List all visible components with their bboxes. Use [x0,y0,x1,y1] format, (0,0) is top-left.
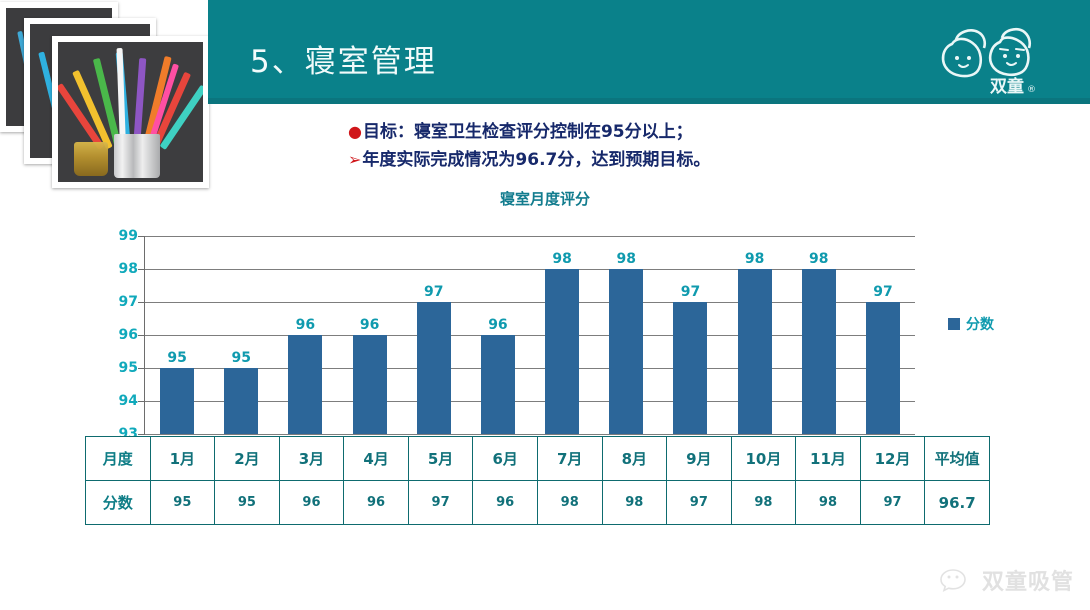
bar-value-label: 97 [873,284,892,300]
bar-value-label: 98 [617,251,636,267]
y-tick-mark [138,335,145,336]
header-underline [208,98,1090,104]
table-score-11月: 98 [796,481,861,525]
bar-value-label: 95 [167,350,186,366]
table-score-5月: 97 [408,481,473,525]
bar-value-label: 98 [809,251,828,267]
bar-cell[interactable]: 96 [273,236,337,434]
bar-cell[interactable]: 98 [594,236,658,434]
bar-chart: 99989796959493 959596969796989897989897 … [85,228,990,440]
table-score-3月: 96 [279,481,344,525]
table-header-month: 月度 [86,437,151,481]
bar-7月[interactable] [545,269,579,434]
bar-cell[interactable]: 98 [530,236,594,434]
y-tick-mark [138,401,145,402]
bar-cell[interactable]: 98 [723,236,787,434]
bar-value-label: 96 [296,317,315,333]
table-score-2月: 95 [215,481,280,525]
y-axis-label: 98 [119,261,138,277]
bar-cell[interactable]: 95 [145,236,209,434]
bar-value-label: 97 [424,284,443,300]
table-row-months: 月度1月2月3月4月5月6月7月8月9月10月11月12月平均值 [86,437,990,481]
table-month-4月: 4月 [344,437,409,481]
bar-6月[interactable] [481,335,515,434]
table-month-5月: 5月 [408,437,473,481]
y-tick-mark [138,302,145,303]
table-score-7月: 98 [537,481,602,525]
bullet-list: ●目标：寝室卫生检查评分控制在95分以上； ➢年度实际完成情况为96.7分，达到… [348,118,908,174]
bar-cell[interactable]: 98 [787,236,851,434]
bullet-item-result: ➢年度实际完成情况为96.7分，达到预期目标。 [348,146,908,174]
bar-5月[interactable] [417,302,451,434]
legend-swatch-score [948,318,960,330]
bar-value-label: 96 [488,317,507,333]
bar-2月[interactable] [224,368,258,434]
table-month-2月: 2月 [215,437,280,481]
table-month-1月: 1月 [150,437,215,481]
legend-label-score: 分数 [966,314,994,334]
bar-9月[interactable] [673,302,707,434]
table-score-1月: 95 [150,481,215,525]
wechat-icon [940,566,974,594]
table-month-6月: 6月 [473,437,538,481]
score-table: 月度1月2月3月4月5月6月7月8月9月10月11月12月平均值 分数95959… [85,436,990,525]
y-axis-label: 96 [119,327,138,343]
chart-plot-area: 99989796959493 959596969796989897989897 [144,236,915,434]
bullet-item-goal: ●目标：寝室卫生检查评分控制在95分以上； [348,118,908,146]
chart-title: 寝室月度评分 [0,188,1090,209]
bar-value-label: 96 [360,317,379,333]
bar-cell[interactable]: 97 [658,236,722,434]
y-tick-mark [138,434,145,435]
table-month-8月: 8月 [602,437,667,481]
bar-cell[interactable]: 95 [209,236,273,434]
chart-bars: 959596969796989897989897 [145,236,915,434]
table-score-6月: 96 [473,481,538,525]
bar-11月[interactable] [802,269,836,434]
table-month-10月: 10月 [731,437,796,481]
bar-4月[interactable] [353,335,387,434]
table-month-9月: 9月 [667,437,732,481]
table-score-12月: 97 [860,481,925,525]
bar-value-label: 98 [745,251,764,267]
y-axis-label: 99 [119,228,138,244]
table-month-12月: 12月 [860,437,925,481]
bar-cell[interactable]: 97 [851,236,915,434]
chart-legend: 分数 [948,314,994,334]
table-score-8月: 98 [602,481,667,525]
bar-value-label: 95 [232,350,251,366]
bullet-text-goal: 目标：寝室卫生检查评分控制在95分以上； [363,122,693,142]
bullet-marker-dot: ● [348,122,362,141]
bar-cell[interactable]: 96 [338,236,402,434]
y-axis-label: 95 [119,360,138,376]
bar-value-label: 97 [681,284,700,300]
y-axis-label: 94 [119,393,138,409]
bar-3月[interactable] [288,335,322,434]
bar-1月[interactable] [160,368,194,434]
bar-cell[interactable]: 96 [466,236,530,434]
table-header-score: 分数 [86,481,151,525]
bar-12月[interactable] [866,302,900,434]
bullet-text-result: 年度实际完成情况为96.7分，达到预期目标。 [362,150,710,170]
photo-front [52,36,209,188]
table-score-平均值: 96.7 [925,481,990,525]
shuangtong-logo: 双童 ® [930,18,1080,98]
bar-cell[interactable]: 97 [402,236,466,434]
gridline [145,434,915,435]
logo-graphic: 双童 ® [930,18,1080,98]
table-score-10月: 98 [731,481,796,525]
table-month-3月: 3月 [279,437,344,481]
bar-10月[interactable] [738,269,772,434]
table-month-11月: 11月 [796,437,861,481]
page-title: 5、寝室管理 [250,36,437,81]
watermark-text: 双童吸管 [982,564,1074,596]
table-month-7月: 7月 [537,437,602,481]
y-tick-mark [138,236,145,237]
bar-value-label: 98 [552,251,571,267]
table-row-scores: 分数95959696979698989798989796.7 [86,481,990,525]
bar-8月[interactable] [609,269,643,434]
y-axis-label: 97 [119,294,138,310]
logo-registered: ® [1027,85,1036,95]
photo-stack [0,0,215,190]
table-score-9月: 97 [667,481,732,525]
watermark: 双童吸管 [940,564,1074,596]
y-tick-mark [138,368,145,369]
table-month-平均值: 平均值 [925,437,990,481]
y-tick-mark [138,269,145,270]
table-score-4月: 96 [344,481,409,525]
bullet-marker-arrow: ➢ [348,150,361,169]
logo-text: 双童 [990,76,1024,97]
